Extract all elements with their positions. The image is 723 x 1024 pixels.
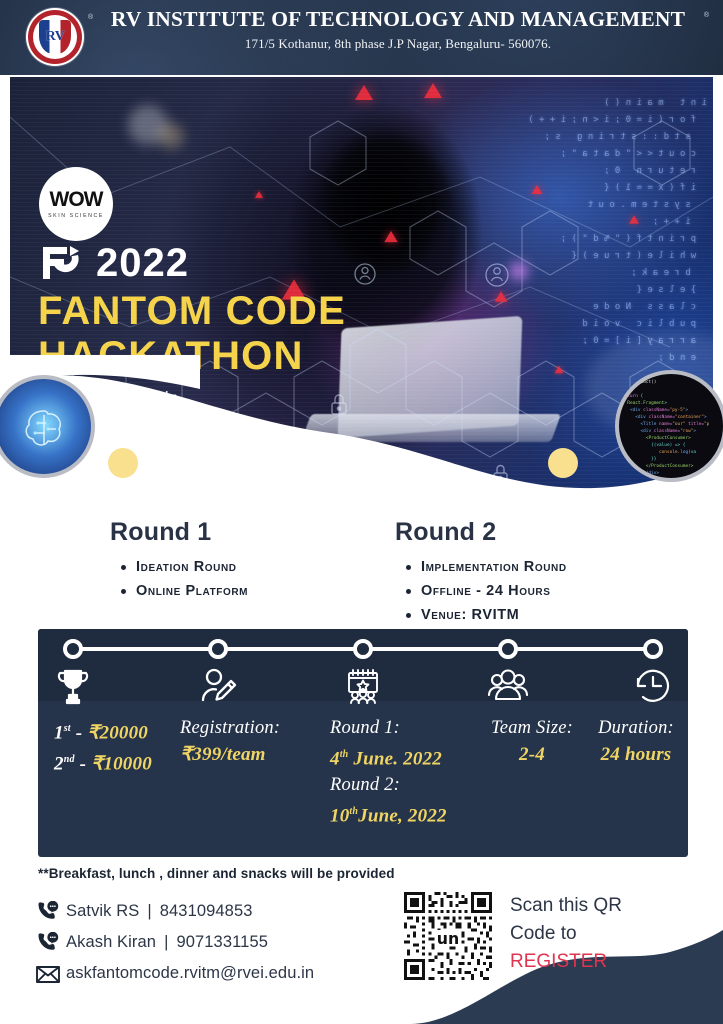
- team-size-label: Team Size:: [472, 715, 592, 741]
- round-1-heading: Round 1: [110, 518, 248, 547]
- timeline-dot: [63, 639, 83, 659]
- rv-institute-logo: RV: [26, 8, 84, 66]
- wow-brand-tagline: SKIN SCIENCE: [48, 213, 104, 219]
- prize-first-sep: -: [71, 722, 87, 743]
- list-item: Implementation Round: [421, 555, 567, 579]
- meals-note: **Breakfast, lunch , dinner and snacks w…: [38, 866, 395, 881]
- contact-name: Akash Kiran: [66, 933, 156, 952]
- timeline-track: [38, 629, 688, 669]
- dates-cell: Round 1: 4th June. 2022 Round 2: 10thJun…: [330, 715, 447, 830]
- contact-phone[interactable]: 8431094853: [160, 902, 253, 921]
- wow-sponsor-badge: WOW SKIN SCIENCE: [39, 167, 113, 241]
- poster-root: RV ® RV INSTITUTE OF TECHNOLOGY AND MANA…: [0, 0, 723, 1024]
- white-wave-divider: [0, 355, 723, 515]
- contact-phone[interactable]: 9071331155: [176, 933, 268, 952]
- register-label: REGISTER: [510, 948, 622, 976]
- prize-second-rank: 2: [54, 754, 64, 775]
- round-1-list: Ideation Round Online Platform: [110, 555, 248, 603]
- registration-fee: ₹399/team: [180, 741, 280, 768]
- scan-instructions: Scan this QR Code to REGISTER: [510, 892, 622, 980]
- scan-line-1: Scan this QR: [510, 892, 622, 920]
- qr-register-block: un Scan this QR Code to REGISTER: [404, 892, 622, 980]
- round1-date-value: 4th June. 2022: [330, 741, 447, 772]
- prize-first-rank: 1: [54, 722, 64, 743]
- contact-row: Akash Kiran | 9071331155: [30, 927, 314, 958]
- prize-second-sep: -: [75, 754, 91, 775]
- qr-code[interactable]: un: [404, 892, 492, 980]
- qr-overlay-text: un: [437, 929, 459, 948]
- event-year: 2022: [96, 243, 189, 283]
- round1-date-label: Round 1:: [330, 715, 447, 741]
- timeline-icons: [38, 665, 688, 705]
- prize-second-sup: nd: [64, 754, 75, 765]
- title-registered-mark: ®: [704, 12, 709, 19]
- registration-label: Registration:: [180, 715, 280, 741]
- code-snippet: WordProduct() —O { return { React.Fragme…: [619, 374, 723, 478]
- event-title-line1: FANTOM CODE: [38, 289, 346, 334]
- round1-month-year: June. 2022: [353, 748, 442, 769]
- prize-second-amount: ₹10000: [91, 754, 152, 775]
- email-row: askfantomcode.rvitm@rvei.edu.in: [30, 958, 314, 989]
- prize-cell: 1st - ₹20000 2nd - ₹10000: [54, 715, 152, 778]
- contact-email[interactable]: askfantomcode.rvitm@rvei.edu.in: [66, 964, 314, 983]
- duration-value: 24 hours: [590, 741, 682, 768]
- qr-code-image: un: [404, 892, 492, 980]
- list-item: Online Platform: [136, 579, 248, 603]
- list-item: Offline - 24 Hours: [421, 579, 567, 603]
- institute-name: RV INSTITUTE OF TECHNOLOGY AND MANAGEMEN…: [88, 6, 708, 33]
- contact-separator: |: [164, 933, 168, 952]
- prize-first-sup: st: [64, 723, 71, 734]
- round1-day: 4: [330, 748, 340, 769]
- timeline-dot: [498, 639, 518, 659]
- round1-day-sup: th: [340, 749, 349, 760]
- timeline-dot: [208, 639, 228, 659]
- scan-line-2: Code to: [510, 920, 622, 948]
- contact-separator: |: [147, 902, 151, 921]
- phone-chat-icon: [30, 899, 66, 925]
- round-1-column: Round 1 Ideation Round Online Platform: [110, 518, 248, 603]
- logo-initials: RV: [46, 30, 65, 44]
- round-2-heading: Round 2: [395, 518, 567, 547]
- team-size-cell: Team Size: 2-4: [472, 715, 592, 768]
- wow-brand-name: WOW: [50, 189, 103, 210]
- event-details-panel: 1st - ₹20000 2nd - ₹10000 Registration: …: [38, 629, 688, 857]
- envelope-icon: [30, 961, 66, 987]
- timeline-dot: [643, 639, 663, 659]
- round-2-column: Round 2 Implementation Round Offline - 2…: [395, 518, 567, 627]
- round-2-list: Implementation Round Offline - 24 Hours …: [395, 555, 567, 627]
- round2-month-year: June, 2022: [358, 806, 447, 827]
- brain-circuit-icon: [18, 405, 70, 451]
- event-logo-row: 2022: [40, 243, 189, 283]
- decorative-yellow-dot: [548, 448, 578, 478]
- decorative-yellow-dot: [108, 448, 138, 478]
- institute-address: 171/5 Kothanur, 8th phase J.P Nagar, Ben…: [88, 36, 708, 52]
- prize-second: 2nd - ₹10000: [54, 746, 152, 777]
- fantom-code-monogram-icon: [40, 243, 82, 283]
- contact-name: Satvik RS: [66, 902, 139, 921]
- round2-date-value: 10thJune, 2022: [330, 798, 447, 829]
- round2-day-sup: th: [349, 806, 358, 817]
- rounds-section: Round 1 Ideation Round Online Platform R…: [0, 512, 723, 630]
- duration-cell: Duration: 24 hours: [590, 715, 682, 768]
- list-item: Ideation Round: [136, 555, 248, 579]
- registration-cell: Registration: ₹399/team: [180, 715, 280, 768]
- prize-first-amount: ₹20000: [87, 722, 148, 743]
- contact-list: Satvik RS | 8431094853 Akash Kiran | 907…: [30, 896, 314, 989]
- code-editor-circle-image: WordProduct() —O { return { React.Fragme…: [615, 370, 723, 482]
- prize-first: 1st - ₹20000: [54, 715, 152, 746]
- round2-day: 10: [330, 806, 349, 827]
- timeline-dot: [353, 639, 373, 659]
- team-size-value: 2-4: [472, 741, 592, 768]
- duration-label: Duration:: [590, 715, 682, 741]
- list-item: Venue: RVITM: [421, 603, 567, 627]
- contact-row: Satvik RS | 8431094853: [30, 896, 314, 927]
- round2-date-label: Round 2:: [330, 772, 447, 798]
- phone-chat-icon: [30, 930, 66, 956]
- panel-details-body: 1st - ₹20000 2nd - ₹10000 Registration: …: [38, 701, 688, 857]
- institute-header: RV ® RV INSTITUTE OF TECHNOLOGY AND MANA…: [0, 0, 723, 75]
